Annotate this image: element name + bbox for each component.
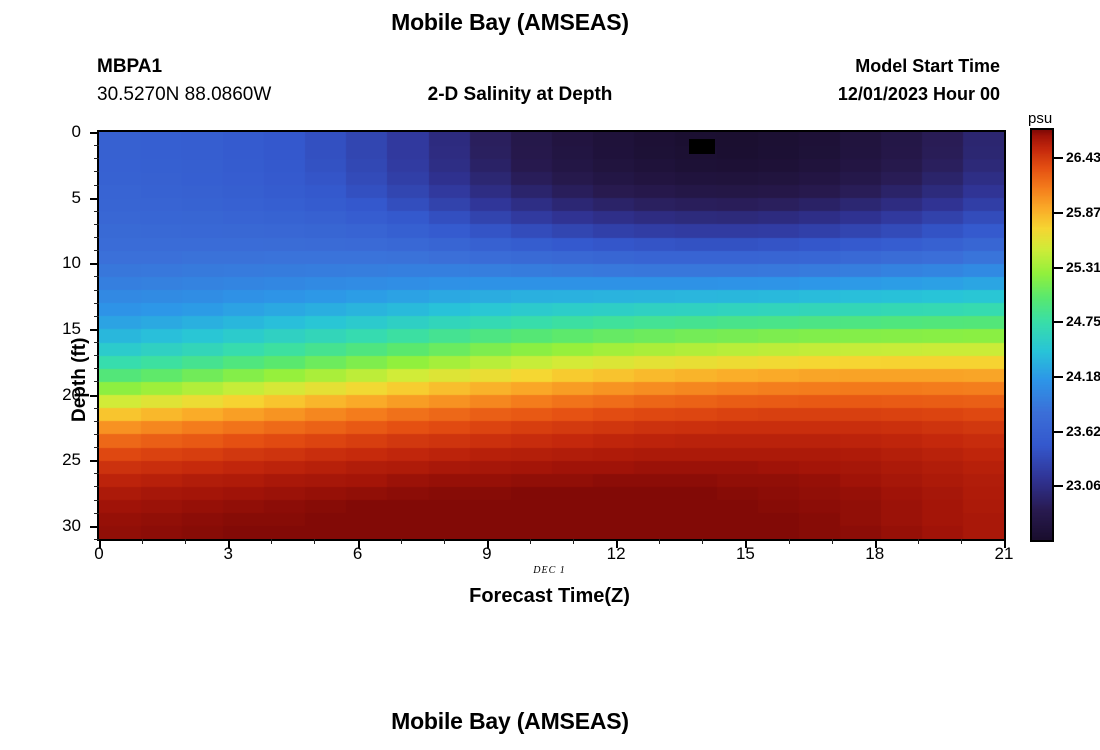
x-axis-tick-label: 15 bbox=[715, 544, 775, 564]
x-axis-minor-tick bbox=[185, 539, 186, 544]
x-axis-minor-tick bbox=[271, 539, 272, 544]
y-axis-minor-tick bbox=[94, 421, 99, 422]
y-axis-tick-label: 30 bbox=[21, 516, 81, 536]
colorbar-tick-label: 25.8750 bbox=[1066, 204, 1100, 220]
y-axis-minor-tick bbox=[94, 434, 99, 435]
x-axis-minor-tick bbox=[789, 539, 790, 544]
y-axis-tick-label: 10 bbox=[21, 253, 81, 273]
y-axis-minor-tick bbox=[94, 237, 99, 238]
y-axis-minor-tick bbox=[94, 316, 99, 317]
y-axis-minor-tick bbox=[94, 355, 99, 356]
page-title: Mobile Bay (AMSEAS) bbox=[0, 9, 1020, 36]
y-axis-minor-tick bbox=[94, 381, 99, 382]
x-axis-tick-label: 21 bbox=[974, 544, 1034, 564]
x-axis-minor-tick bbox=[142, 539, 143, 544]
y-axis-minor-tick bbox=[94, 342, 99, 343]
x-axis-tick-label: 6 bbox=[328, 544, 388, 564]
y-axis-minor-tick bbox=[94, 145, 99, 146]
x-axis-minor-tick bbox=[573, 539, 574, 544]
colorbar-unit-label: psu bbox=[1028, 110, 1052, 127]
y-axis-minor-tick bbox=[94, 368, 99, 369]
colorbar-tick-label: 24.1875 bbox=[1066, 368, 1100, 384]
y-axis-minor-tick bbox=[94, 500, 99, 501]
y-axis-minor-tick bbox=[94, 408, 99, 409]
x-axis-minor-tick bbox=[314, 539, 315, 544]
x-axis-tick-label: 0 bbox=[69, 544, 129, 564]
salinity-heatmap bbox=[99, 132, 1004, 539]
colorbar-tick-label: 23.0625 bbox=[1066, 477, 1100, 493]
missing-data-patch bbox=[689, 139, 715, 154]
bottom-page-title: Mobile Bay (AMSEAS) bbox=[0, 708, 1020, 735]
y-axis-major-tick bbox=[90, 460, 99, 462]
x-axis-minor-tick bbox=[530, 539, 531, 544]
y-axis-minor-tick bbox=[94, 486, 99, 487]
heatmap-plot-area: 051015202530 036912151821 Depth (ft) bbox=[97, 130, 1006, 541]
y-axis-major-tick bbox=[90, 198, 99, 200]
y-axis-tick-label: 0 bbox=[21, 122, 81, 142]
y-axis-minor-tick bbox=[94, 513, 99, 514]
model-start-time-value: 12/01/2023 Hour 00 bbox=[838, 84, 1000, 105]
y-axis-minor-tick bbox=[94, 276, 99, 277]
y-axis-minor-tick bbox=[94, 211, 99, 212]
y-axis-tick-label: 25 bbox=[21, 450, 81, 470]
y-axis-minor-tick bbox=[94, 303, 99, 304]
station-coordinates-label: 30.5270N 88.0860W bbox=[97, 84, 271, 106]
y-axis-major-tick bbox=[90, 526, 99, 528]
y-axis-major-tick bbox=[90, 395, 99, 397]
x-axis-minor-tick bbox=[659, 539, 660, 544]
station-id-label: MBPA1 bbox=[97, 56, 162, 78]
colorbar-tick bbox=[1054, 267, 1063, 269]
colorbar-tick bbox=[1054, 212, 1063, 214]
colorbar-tick bbox=[1054, 157, 1063, 159]
colorbar-tick bbox=[1054, 431, 1063, 433]
x-axis-minor-tick bbox=[702, 539, 703, 544]
colorbar-gradient bbox=[1032, 130, 1052, 540]
y-axis-major-tick bbox=[90, 263, 99, 265]
x-axis-tick-label: 18 bbox=[845, 544, 905, 564]
x-axis-minor-tick bbox=[401, 539, 402, 544]
colorbar-tick-label: 26.4375 bbox=[1066, 149, 1100, 165]
y-axis-minor-tick bbox=[94, 224, 99, 225]
y-axis-title: Depth (ft) bbox=[69, 338, 91, 422]
chart-subtitle: 2-D Salinity at Depth bbox=[270, 84, 770, 106]
x-axis-tick-label: 3 bbox=[198, 544, 258, 564]
y-axis-minor-tick bbox=[94, 290, 99, 291]
colorbar-tick bbox=[1054, 485, 1063, 487]
x-axis-title: Forecast Time(Z) bbox=[97, 585, 1002, 608]
x-axis-tick-label: 12 bbox=[586, 544, 646, 564]
y-axis-minor-tick bbox=[94, 250, 99, 251]
x-axis-tick-label: 9 bbox=[457, 544, 517, 564]
x-axis-minor-tick bbox=[961, 539, 962, 544]
colorbar-tick bbox=[1054, 376, 1063, 378]
y-axis-major-tick bbox=[90, 132, 99, 134]
colorbar: 26.437525.875025.312524.750024.187523.62… bbox=[1030, 128, 1054, 542]
colorbar-tick-label: 24.7500 bbox=[1066, 313, 1100, 329]
model-start-time-label: Model Start Time bbox=[855, 56, 1000, 77]
colorbar-tick-label: 23.6250 bbox=[1066, 423, 1100, 439]
y-axis-minor-tick bbox=[94, 473, 99, 474]
y-axis-minor-tick bbox=[94, 171, 99, 172]
colorbar-tick bbox=[1054, 321, 1063, 323]
y-axis-minor-tick bbox=[94, 158, 99, 159]
y-axis-minor-tick bbox=[94, 447, 99, 448]
y-axis-tick-label: 15 bbox=[21, 319, 81, 339]
x-axis-minor-tick bbox=[444, 539, 445, 544]
x-axis-minor-tick bbox=[832, 539, 833, 544]
x-axis-minor-tick bbox=[918, 539, 919, 544]
date-annotation: DEC 1 bbox=[97, 565, 1002, 576]
y-axis-minor-tick bbox=[94, 185, 99, 186]
y-axis-major-tick bbox=[90, 329, 99, 331]
colorbar-tick-label: 25.3125 bbox=[1066, 259, 1100, 275]
y-axis-tick-label: 5 bbox=[21, 188, 81, 208]
